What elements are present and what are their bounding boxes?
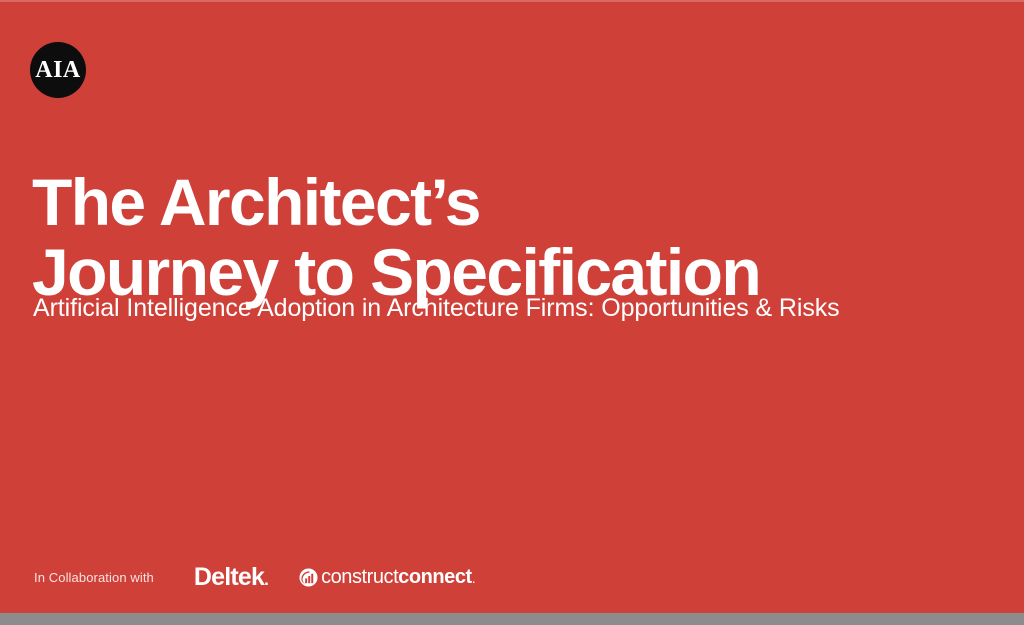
constructconnect-wordmark-light: construct bbox=[321, 566, 398, 588]
bottom-band bbox=[0, 613, 1024, 625]
constructconnect-trailing-dot: . bbox=[472, 570, 475, 586]
page-title: The Architect’s Journey to Specification bbox=[32, 167, 932, 307]
aia-logo[interactable]: AIA bbox=[30, 42, 86, 98]
deltek-wordmark: Deltek bbox=[194, 563, 264, 591]
constructconnect-wordmark: constructconnect. bbox=[321, 567, 475, 587]
collaboration-label: In Collaboration with bbox=[34, 570, 154, 585]
slide-canvas: AIA The Architect’s Journey to Specifica… bbox=[0, 0, 1024, 613]
aia-logo-text: AIA bbox=[35, 58, 81, 83]
page-title-line-1: The Architect’s bbox=[32, 167, 932, 237]
deltek-logo[interactable]: Deltek. bbox=[194, 565, 268, 590]
constructconnect-mark-icon bbox=[299, 568, 318, 587]
deltek-trailing-dot: . bbox=[264, 570, 268, 589]
slide-root: AIA The Architect’s Journey to Specifica… bbox=[0, 0, 1024, 625]
constructconnect-logo[interactable]: constructconnect. bbox=[299, 567, 475, 587]
footer-partners: In Collaboration with Deltek. constructc… bbox=[34, 562, 475, 592]
page-subtitle: Artificial Intelligence Adoption in Arch… bbox=[33, 293, 840, 323]
constructconnect-wordmark-bold: connect bbox=[398, 566, 472, 588]
